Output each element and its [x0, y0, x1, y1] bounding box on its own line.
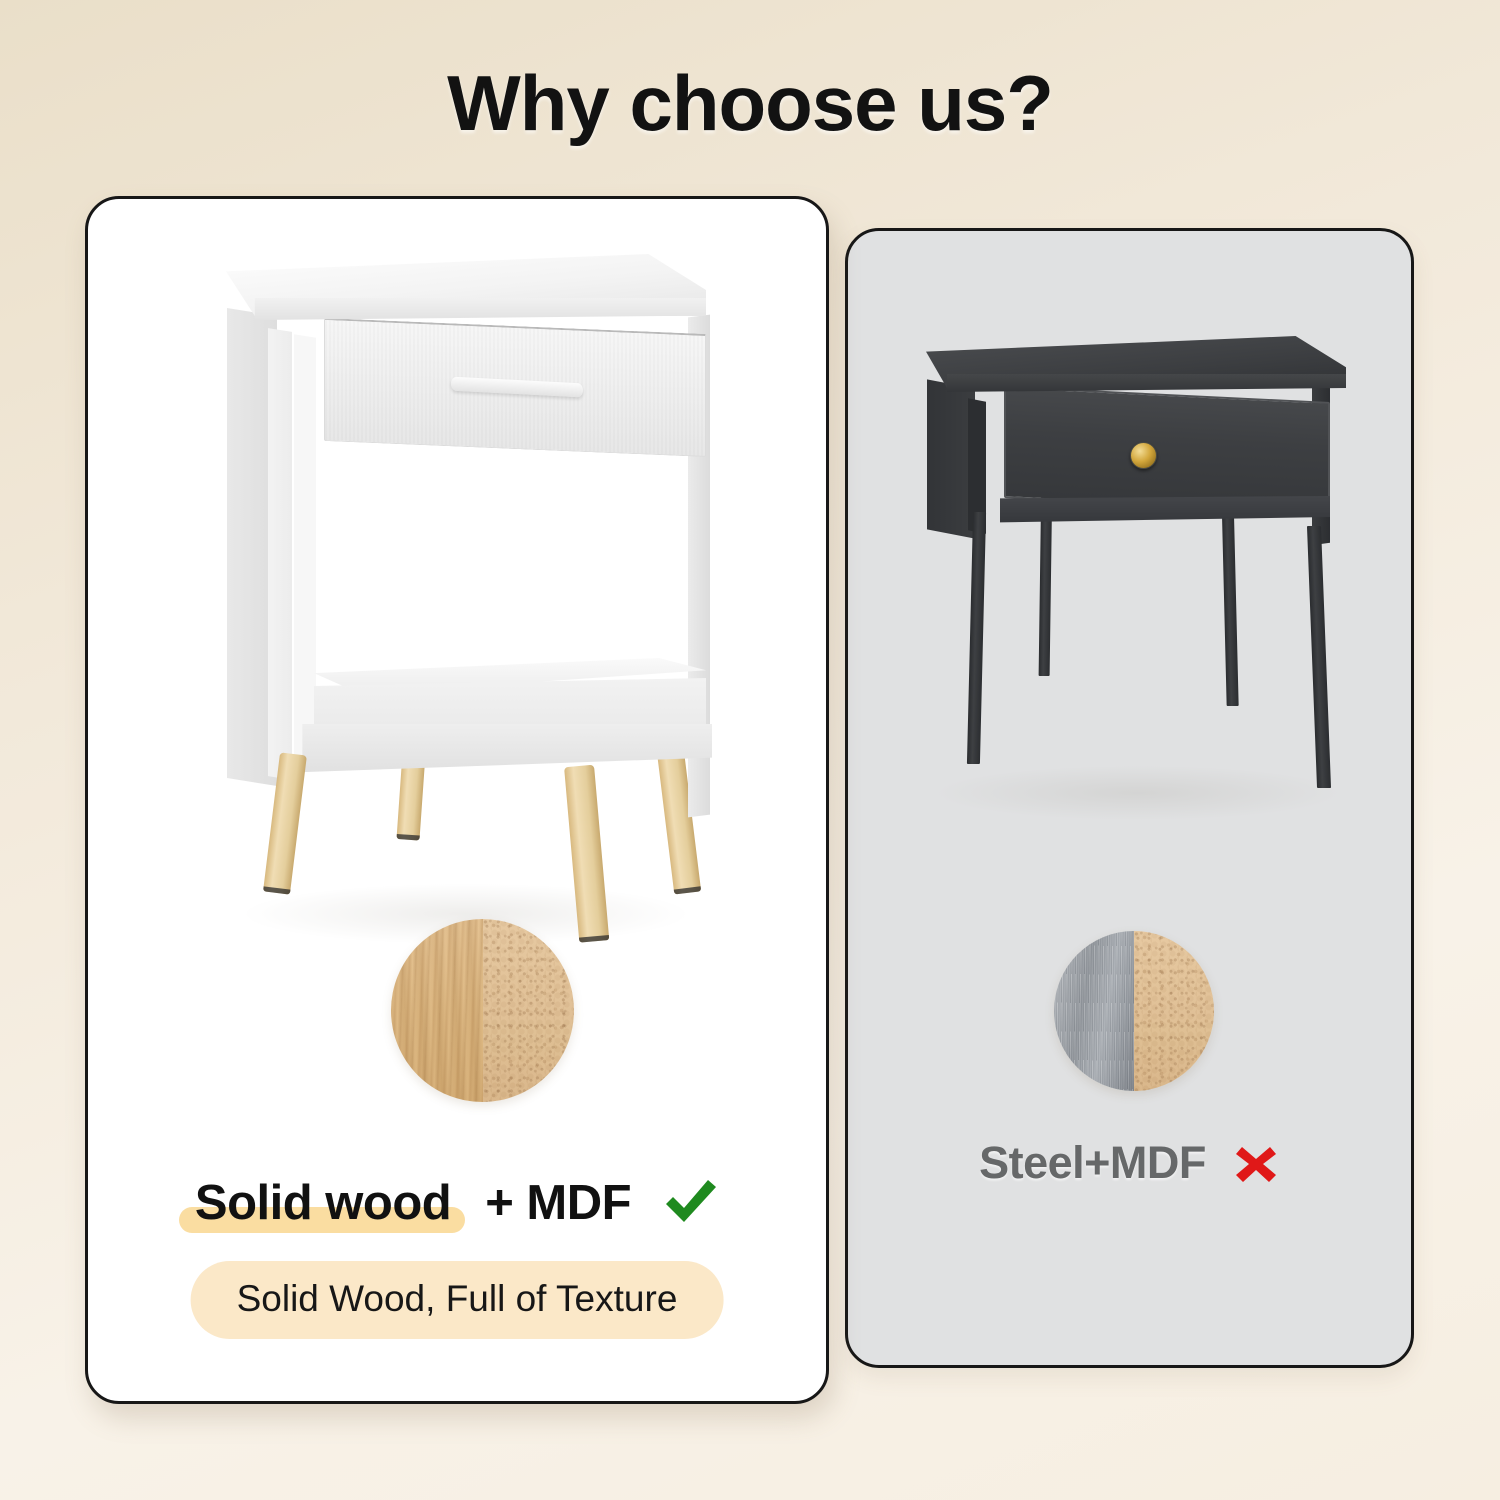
- comparison-card-con[interactable]: Steel+MDF: [845, 228, 1414, 1368]
- check-icon: [661, 1174, 719, 1232]
- pro-label-row: Solid wood + MDF: [88, 1174, 826, 1232]
- metal-leg-front-right: [1307, 526, 1331, 788]
- material-swatch-wood-mdf: [391, 919, 574, 1102]
- cabinet-side-panel-inner: [268, 328, 292, 780]
- metal-leg-back-right: [1221, 488, 1238, 706]
- comparison-card-pro[interactable]: Solid wood + MDF Solid Wood, Full of Tex…: [85, 196, 829, 1404]
- drawer-front: [1004, 386, 1330, 514]
- swatch-half-wood: [391, 919, 483, 1102]
- con-label-row: Steel+MDF: [848, 1137, 1411, 1189]
- cross-icon: [1232, 1139, 1280, 1187]
- product-image-white-nightstand: [206, 254, 726, 934]
- highlighted-material: Solid wood: [195, 1175, 451, 1231]
- table-top-edge: [226, 298, 706, 320]
- swatch-half-steel: [1054, 931, 1134, 1091]
- metal-leg-front-left: [967, 512, 986, 764]
- cabinet-inner-wall: [294, 334, 316, 767]
- pro-material-primary: Solid wood: [195, 1176, 451, 1230]
- swatch-half-mdf: [1134, 931, 1214, 1091]
- table-top-edge: [926, 374, 1346, 392]
- pro-material-secondary: + MDF: [485, 1175, 631, 1231]
- cabinet-base: [294, 724, 712, 780]
- cabinet-apron: [1000, 496, 1330, 526]
- swatch-half-mdf: [483, 919, 575, 1102]
- product-image-dark-nightstand: [908, 336, 1368, 896]
- brass-knob-icon: [1130, 442, 1157, 469]
- product-shadow: [938, 766, 1338, 820]
- material-swatch-steel-mdf: [1054, 931, 1214, 1091]
- con-material-label: Steel+MDF: [979, 1137, 1206, 1189]
- pro-feature-badge: Solid Wood, Full of Texture: [191, 1261, 724, 1339]
- comparison-area: Steel+MDF: [0, 0, 1500, 1500]
